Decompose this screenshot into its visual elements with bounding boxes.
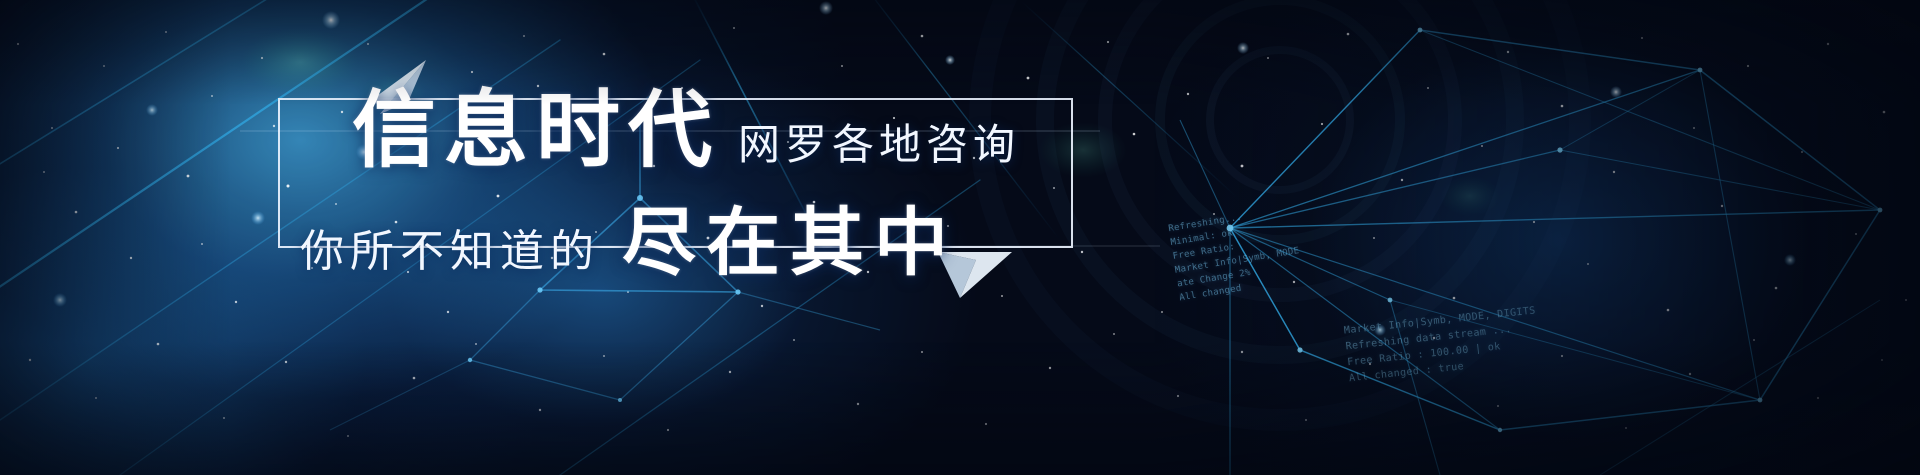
promo-banner: 信息时代 网罗各地咨询 你所不知道的 尽在其中 Refreshing... Mi… [0,0,1920,475]
text-outline-frame [278,98,1073,248]
